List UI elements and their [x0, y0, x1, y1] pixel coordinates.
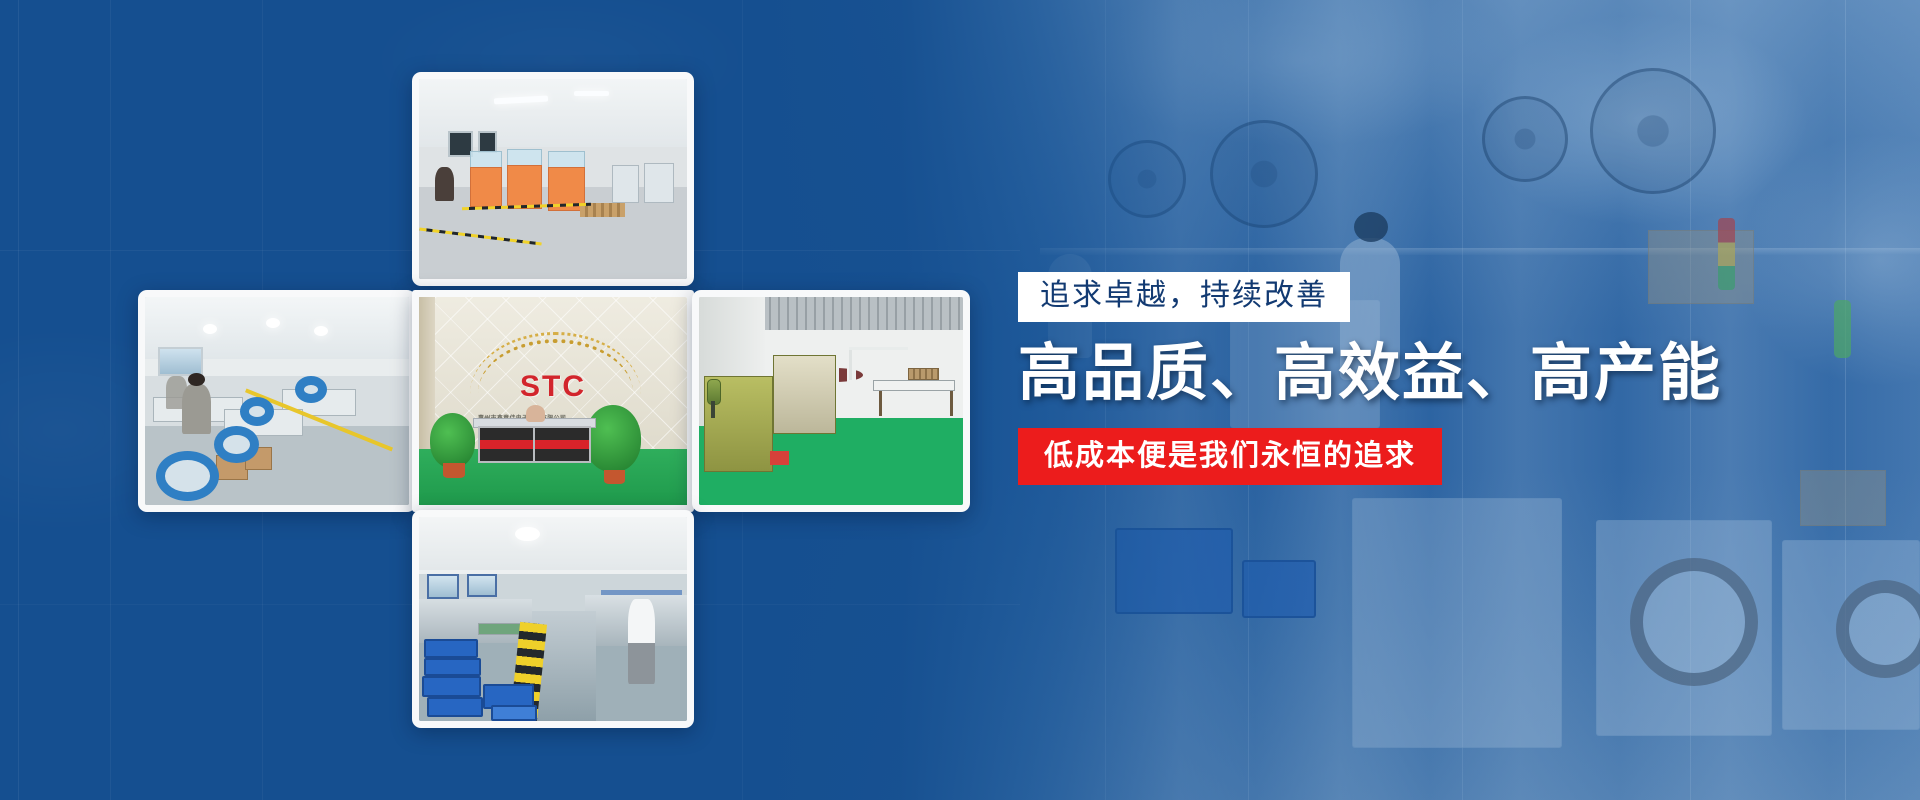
photo-collage: STC 惠州市鑫意佳电子科技有限公司 CO., LTD	[0, 0, 1000, 800]
photo-right[interactable]	[692, 290, 970, 512]
photo-top[interactable]	[412, 72, 694, 286]
photo-center-reception[interactable]: STC 惠州市鑫意佳电子科技有限公司 CO., LTD	[412, 290, 694, 512]
tagline-badge: 追求卓越，持续改善	[1018, 272, 1350, 322]
photo-bottom[interactable]	[412, 510, 694, 728]
photo-right-scene	[699, 297, 963, 505]
headline: 高品质、高效益、高产能	[1018, 340, 1718, 406]
photo-bottom-scene	[419, 517, 687, 721]
stc-logo: STC	[419, 372, 687, 402]
hero-copy: 追求卓越，持续改善 高品质、高效益、高产能 低成本便是我们永恒的追求	[1018, 272, 1718, 485]
hero-banner: STC 惠州市鑫意佳电子科技有限公司 CO., LTD	[0, 0, 1920, 800]
photo-left-scene	[145, 297, 409, 505]
ribbon-banner: 低成本便是我们永恒的追求	[1018, 428, 1442, 485]
photo-left[interactable]	[138, 290, 416, 512]
photo-center-scene: STC 惠州市鑫意佳电子科技有限公司 CO., LTD	[419, 297, 687, 505]
photo-top-scene	[419, 79, 687, 279]
